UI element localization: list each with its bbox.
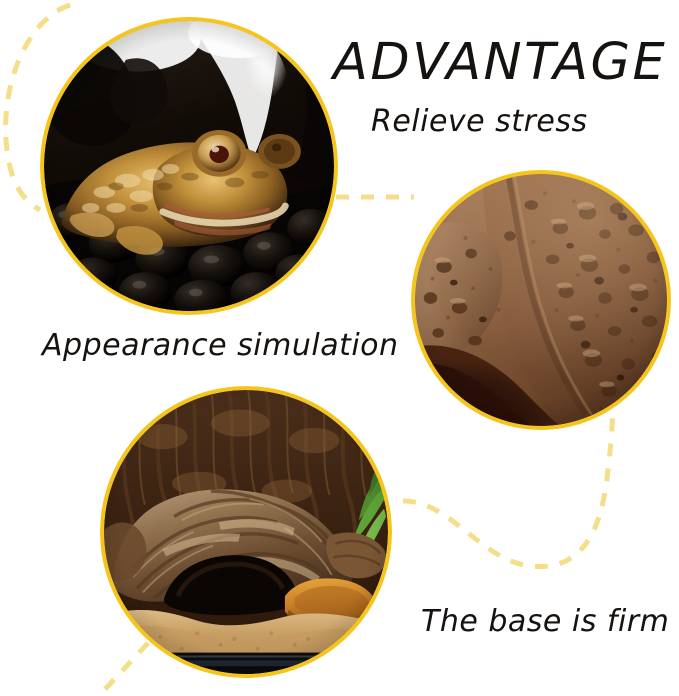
photo-circle-rock-texture	[411, 170, 671, 430]
photo-ring-rock-texture	[411, 170, 671, 430]
photo-ring-horned-frog	[40, 17, 338, 315]
advantage-poster: ADVANTAGE Relieve stress Appearance simu…	[0, 0, 679, 696]
photo-circle-horned-frog	[40, 17, 338, 315]
dash-habitat-to-rock	[403, 413, 613, 567]
photo-circle-terrarium-habitat	[100, 386, 392, 678]
feature-label-base-is-firm: The base is firm	[421, 604, 669, 639]
page-title: ADVANTAGE	[333, 33, 667, 92]
feature-label-appearance-simulation: Appearance simulation	[42, 328, 399, 363]
feature-label-relieve-stress: Relieve stress	[371, 104, 588, 139]
photo-ring-terrarium-habitat	[100, 386, 392, 678]
